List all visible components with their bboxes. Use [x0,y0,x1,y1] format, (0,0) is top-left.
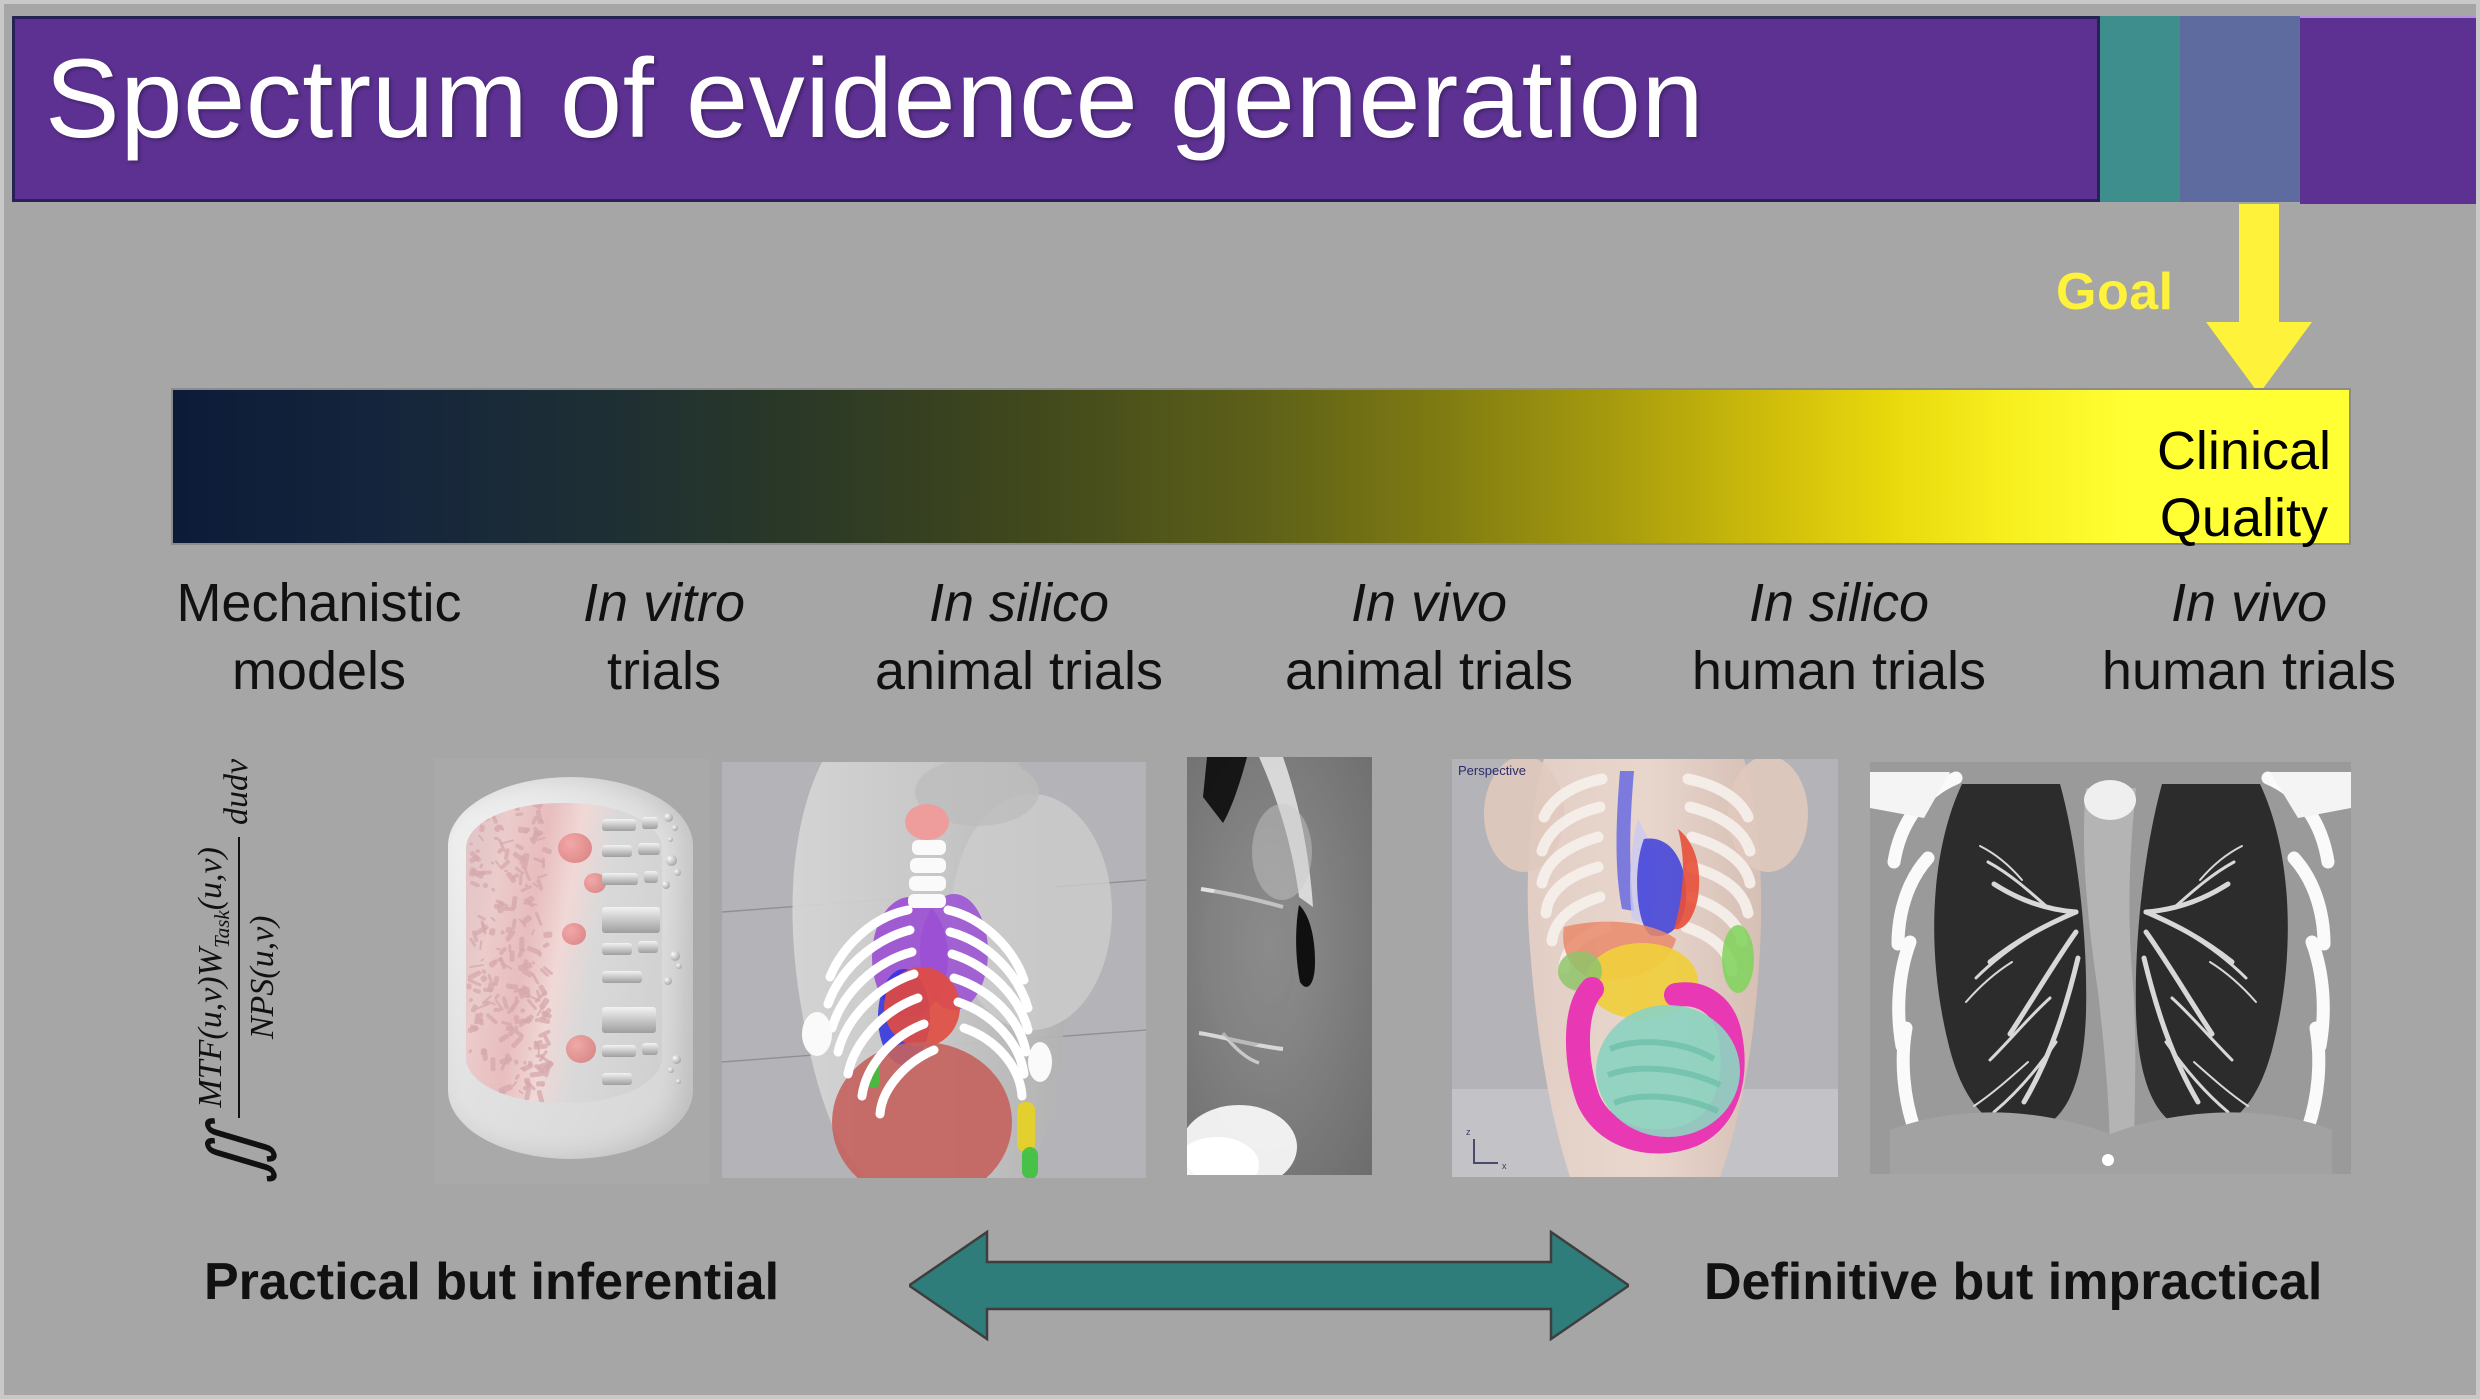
phantom-fiber [531,929,535,935]
phantom-fiber [470,880,480,887]
stage-label-0: Mechanisticmodels [104,569,534,705]
phantom-fiber [490,916,496,921]
in-silico-human-phantom-image: z x Perspective [1452,759,1838,1177]
phantom-fiber [478,871,492,875]
phantom-fiber [467,984,472,990]
perspective-overlay-tag: Perspective [1458,763,1526,778]
formula-mtf-args: (u,v) [192,976,229,1039]
stage-label-3-line1: In vivo [1214,569,1644,637]
phantom-fiber [510,951,515,962]
definitive-but-impractical-label: Definitive but impractical [1704,1252,2322,1312]
phantom-fiber [541,846,552,854]
formula-w-subscript: Task [210,910,234,948]
stage-label-4-line1: In silico [1624,569,2054,637]
phantom-fiber [511,918,516,929]
phantom-fiber [515,844,525,852]
stage-label-4-line2: human trials [1624,637,2054,705]
formula-denominator: NPS(u,v) [240,915,282,1039]
phantom-lesion [566,1035,596,1063]
phantom-fiber [483,988,494,992]
phantom-fiber [542,942,550,949]
phantom-rod [602,819,636,831]
double-integral-symbol: ∬ [200,1124,274,1184]
phantom-fiber [523,867,531,881]
phantom-rod [602,971,642,983]
stage-label-1: In vitrotrials [514,569,814,705]
phantom-fiber [477,835,484,843]
phantom-fiber [479,1018,484,1026]
phantom-fiber [510,1036,523,1049]
phantom-fiber [521,1009,526,1013]
phantom-bead [670,951,680,961]
clinical-quality-line2: Quality [2157,485,2331,552]
phantom-fiber [513,1059,518,1065]
phantom-fiber [519,989,524,995]
phantom-fiber [512,1080,518,1087]
phantom-fiber [475,848,480,853]
phantom-fiber [537,873,548,879]
phantom-fiber [492,862,495,865]
accent-band-purple [2300,16,2480,204]
phantom-fiber [491,888,495,893]
phantom-bead [666,855,677,866]
formula-fraction: MTF(u,v)WTask(u,v) NPS(u,v) [192,837,282,1118]
radiograph-render [1187,757,1372,1175]
phantom-rod [602,845,632,857]
phantom-fiber [486,1013,499,1025]
formula-numerator: MTF(u,v)WTask(u,v) [192,837,240,1118]
phantom-fiber [494,961,497,965]
phantom-fiber [468,998,473,1003]
phantom-fiber [469,842,474,845]
phantom-bead [668,1067,674,1073]
accent-band-blue [2180,16,2300,202]
phantom-fiber [514,1074,520,1080]
phantom-fiber [527,945,542,955]
stage-label-0-line1: Mechanistic [104,569,534,637]
phantom-fiber [528,1046,533,1050]
in-vitro-phantom-image [434,759,709,1184]
phantom-rod [602,873,638,885]
phantom-fiber [525,1014,534,1024]
phantom-fiber [517,826,528,832]
clinical-quality-label: Clinical Quality [2157,418,2331,552]
stage-label-5: In vivohuman trials [2034,569,2464,705]
phantom-lesion [558,833,592,863]
accent-band-teal [2100,16,2180,202]
phantom-rod [638,843,660,855]
phantom-fiber [502,996,509,1010]
phantom-fiber [489,928,496,936]
phantom-bead [662,881,670,889]
phantom-rod [644,871,658,883]
stage-label-1-line1: In vitro [514,569,814,637]
phantom-fiber [524,1086,532,1101]
double-arrow-horizontal-icon [909,1228,1629,1343]
formula-mtf: MTF [192,1040,229,1108]
phantom-fiber [480,825,486,832]
stage-label-1-line2: trials [514,637,814,705]
phantom-fiber [491,1057,496,1071]
mechanistic-model-formula: ∬ MTF(u,v)WTask(u,v) NPS(u,v) dudv [152,764,322,1184]
phantom-fiber [493,1008,502,1012]
phantom-test-rods [602,811,694,1101]
phantom-fiber [497,1033,509,1043]
phantom-bead [676,963,682,969]
stage-label-5-line1: In vivo [2034,569,2464,637]
phantom-bead [672,1055,681,1064]
stage-label-2-line2: animal trials [804,637,1234,705]
phantom-fiber [532,961,535,965]
arrow-down-icon [2206,204,2312,394]
practical-but-inferential-label: Practical but inferential [204,1252,779,1312]
phantom-fiber [533,831,543,836]
phantom-fiber [468,1049,473,1054]
phantom-fiber [537,1046,539,1057]
stage-label-3: In vivoanimal trials [1214,569,1644,705]
page-title: Spectrum of evidence generation [45,33,1704,165]
evidence-spectrum-gradient-bar: Clinical Quality [171,388,2351,545]
phantom-fiber [517,948,524,959]
phantom-bead [672,825,678,831]
phantom-fiber [473,988,482,994]
stage-label-3-line2: animal trials [1214,637,1644,705]
phantom-fiber [518,1090,524,1095]
svg-text:x: x [1502,1161,1507,1171]
phantom-fiber [481,968,487,974]
phantom-fiber [480,975,488,983]
stage-label-5-line2: human trials [2034,637,2464,705]
stage-label-2: In silicoanimal trials [804,569,1234,705]
formula-w: W [192,948,229,976]
phantom-bead [664,977,672,985]
phantom-fiber [503,906,516,910]
stage-label-0-line2: models [104,637,534,705]
svg-text:z: z [1466,1127,1471,1137]
phantom-rod [638,941,658,953]
phantom-fiber [500,929,505,935]
phantom-rod [602,943,632,955]
stage-label-2-line1: In silico [804,569,1234,637]
goal-label: Goal [2056,262,2174,322]
human-phantom-render: z x [1452,759,1838,1177]
phantom-fiber [469,964,484,968]
phantom-fiber [494,994,500,1001]
phantom-lesion [562,923,586,945]
phantom-bead [676,1079,681,1084]
phantom-rod [602,907,660,933]
title-bar: Spectrum of evidence generation [12,16,2100,202]
stage-label-row: MechanisticmodelsIn vitrotrialsIn silico… [104,569,2404,714]
phantom-fiber [537,1089,546,1103]
phantom-fiber [515,813,524,817]
phantom-fiber [479,940,482,950]
phantom-rod [642,817,658,829]
phantom-fiber [480,958,485,962]
clinical-quality-line1: Clinical [2157,418,2331,485]
phantom-fiber [482,882,489,889]
phantom-fiber [478,863,483,868]
phantom-fiber [493,976,500,987]
slide-canvas: Spectrum of evidence generation Goal Cli… [0,0,2480,1399]
phantom-rod [602,1007,656,1033]
formula-w-args: (u,v) [192,847,229,910]
phantom-fiber [473,924,488,936]
phantom-bead [664,813,673,822]
phantom-bead [668,837,673,842]
phantom-fiber [534,911,543,926]
in-vivo-animal-radiograph-image [1187,757,1372,1175]
phantom-bead [674,869,681,876]
formula-differential: dudv [218,759,256,831]
in-vivo-human-ct-image [1870,762,2351,1174]
in-silico-animal-phantom-image [722,762,1146,1178]
animal-phantom-render [722,762,1146,1178]
phantom-fiber [467,1094,473,1101]
phantom-fiber [514,803,520,811]
phantom-rod [642,1043,658,1055]
phantom-fiber [536,1081,545,1087]
phantom-fiber [543,931,553,938]
phantom-fiber [487,973,493,981]
chest-ct-render [1870,762,2351,1174]
phantom-fiber [535,809,543,824]
phantom-rod [602,1045,636,1057]
stage-label-4: In silicohuman trials [1624,569,2054,705]
phantom-rod [602,1073,632,1085]
